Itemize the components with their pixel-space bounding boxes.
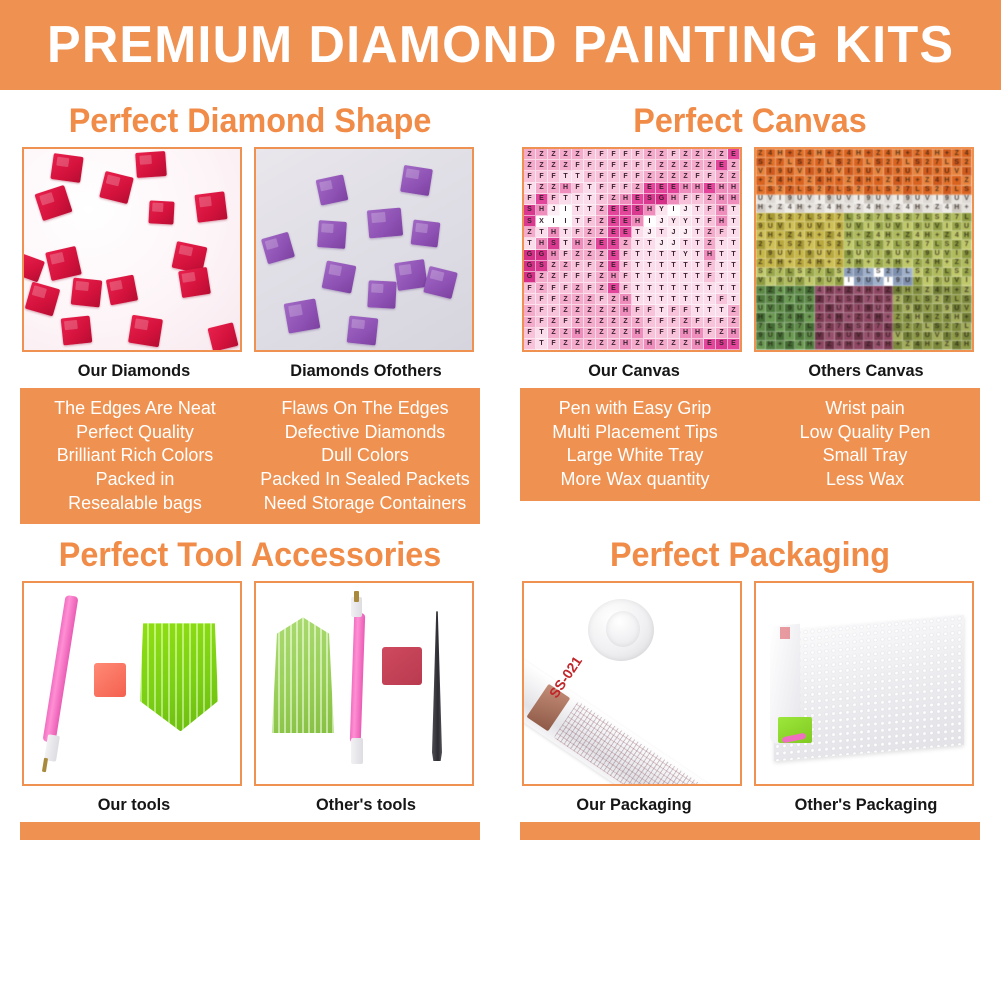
pen-end-cap (351, 738, 363, 764)
canvas-symbol-cell: F (548, 171, 560, 182)
canvas-symbol-cell: U (766, 222, 776, 231)
canvas-symbol-cell: F (668, 328, 680, 339)
canvas-symbol-cell: S (943, 240, 953, 249)
canvas-symbol-cell: F (548, 283, 560, 294)
canvas-symbol-cell: 2 (864, 323, 874, 332)
canvas-symbol-cell: U (756, 195, 766, 204)
canvas-symbol-cell: U (835, 304, 845, 313)
canvas-symbol-cell: Z (596, 216, 608, 227)
canvas-symbol-cell: 2 (825, 213, 835, 222)
diamond-drill (128, 315, 163, 348)
canvas-symbol-cell: Z (716, 328, 728, 339)
canvas-symbol-cell: H (620, 305, 632, 316)
canvas-symbol-cell: 4 (766, 149, 776, 158)
canvas-symbol-cell: H (785, 286, 795, 295)
canvas-symbol-cell: F (596, 294, 608, 305)
canvas-symbol-cell: Z (913, 259, 923, 268)
canvas-symbol-cell: U (884, 332, 894, 341)
canvas-symbol-cell: I (943, 332, 953, 341)
canvas-symbol-cell: Z (962, 176, 972, 185)
canvas-symbol-cell: V (903, 250, 913, 259)
canvas-symbol-cell: T (728, 227, 740, 238)
canvas-symbol-cell: T (728, 238, 740, 249)
canvas-symbol-cell: Z (785, 341, 795, 350)
canvas-symbol-cell: 4 (854, 286, 864, 295)
canvas-symbol-cell: V (825, 250, 835, 259)
canvas-symbol-cell: E (620, 205, 632, 216)
wax-block (94, 663, 126, 697)
canvas-symbol-cell: 4 (874, 341, 884, 350)
canvas-symbol-cell: Z (903, 231, 913, 240)
canvas-symbol-cell: + (913, 286, 923, 295)
canvas-symbol-cell: Z (524, 305, 536, 316)
canvas-symbol-cell: S (962, 295, 972, 304)
canvas-symbol-cell: 4 (776, 176, 786, 185)
canvas-symbol-cell: Z (854, 313, 864, 322)
canvas-symbol-cell: V (874, 277, 884, 286)
canvas-symbol-cell: 7 (943, 295, 953, 304)
canvas-symbol-cell: L (756, 295, 766, 304)
canvas-symbol-cell: + (893, 341, 903, 350)
canvas-symbol-cell: F (584, 171, 596, 182)
diamond-drill (367, 280, 396, 308)
canvas-symbol-cell: S (952, 268, 962, 277)
canvas-symbol-cell: 9 (933, 277, 943, 286)
canvas-symbol-cell: 9 (913, 332, 923, 341)
canvas-symbol-cell: L (923, 213, 933, 222)
canvas-symbol-cell: I (548, 216, 560, 227)
canvas-symbol-cell: U (864, 277, 874, 286)
canvas-symbol-cell: Z (620, 317, 632, 328)
canvas-symbol-cell: I (854, 304, 864, 313)
canvas-symbol-cell: T (536, 227, 548, 238)
canvas-symbol-cell: 4 (923, 259, 933, 268)
canvas-symbol-cell: F (572, 183, 584, 194)
canvas-symbol-cell: F (560, 283, 572, 294)
canvas-symbol-cell: 4 (785, 313, 795, 322)
canvas-symbol-cell: U (952, 195, 962, 204)
canvas-symbol-cell: Z (680, 339, 692, 350)
canvas-symbol-cell: I (776, 195, 786, 204)
canvas-symbol-cell: G (524, 250, 536, 261)
canvas-symbol-cell: H (844, 341, 854, 350)
canvas-symbol-cell: U (815, 250, 825, 259)
canvas-symbol-cell: Z (680, 160, 692, 171)
canvas-symbol-cell: 2 (776, 295, 786, 304)
canvas-symbol-cell: 2 (923, 158, 933, 167)
canvas-symbol-cell: E (704, 183, 716, 194)
canvas-symbol-cell: S (844, 295, 854, 304)
canvas-symbol-cell: T (692, 272, 704, 283)
canvas-symbol-cell: 2 (952, 240, 962, 249)
canvas-symbol-cell: L (835, 295, 845, 304)
canvas-symbol-cell: Z (844, 286, 854, 295)
diamond-drill (367, 208, 403, 239)
canvas-symbol-cell: V (923, 304, 933, 313)
canvas-symbol-cell: Z (560, 328, 572, 339)
canvas-symbol-cell: 9 (903, 195, 913, 204)
canvas-symbol-cell: Z (596, 250, 608, 261)
canvas-symbol-cell: Z (704, 194, 716, 205)
canvas-symbol-cell: Z (795, 149, 805, 158)
canvas-symbol-cell: Z (923, 286, 933, 295)
canvas-symbol-cell: 7 (756, 213, 766, 222)
canvas-symbol-cell: Z (536, 160, 548, 171)
canvas-symbol-cell: + (854, 231, 864, 240)
canvas-symbol-cell: 2 (835, 240, 845, 249)
canvas-symbol-cell: T (536, 339, 548, 350)
canvas-symbol-cell: Z (825, 231, 835, 240)
fact-line: Pen with Easy Grip (527, 396, 742, 420)
canvas-symbol-cell: I (805, 277, 815, 286)
canvas-symbol-cell: 7 (776, 158, 786, 167)
canvas-symbol-cell: + (962, 313, 972, 322)
canvas-symbol-cell: 2 (805, 268, 815, 277)
canvas-symbol-cell: 7 (874, 213, 884, 222)
canvas-symbol-cell: + (815, 341, 825, 350)
canvas-symbol-cell: H (620, 294, 632, 305)
canvas-symbol-cell: 7 (933, 158, 943, 167)
comparison-cell-ours: Our Diamonds (22, 147, 246, 388)
canvas-symbol-cell: Z (815, 313, 825, 322)
canvas-symbol-cell: S (844, 186, 854, 195)
canvas-symbol-cell: Z (805, 176, 815, 185)
canvas-symbol-cell: F (620, 171, 632, 182)
canvas-symbol-cell: V (815, 222, 825, 231)
canvas-symbol-cell: T (632, 227, 644, 238)
canvas-symbol-cell: 4 (864, 204, 874, 213)
canvas-symbol-cell: T (536, 328, 548, 339)
canvas-symbol-cell: F (536, 294, 548, 305)
canvas-symbol-cell: F (704, 205, 716, 216)
canvas-symbol-cell: 4 (805, 259, 815, 268)
canvas-symbol-cell: 2 (795, 240, 805, 249)
canvas-symbol-cell: 7 (785, 186, 795, 195)
canvas-symbol-cell: F (632, 160, 644, 171)
diamond-drill (411, 219, 441, 247)
canvas-symbol-cell: F (536, 171, 548, 182)
canvas-symbol-cell: T (644, 250, 656, 261)
canvas-symbol-cell: I (560, 216, 572, 227)
canvas-symbol-cell: Y (680, 216, 692, 227)
canvas-symbol-cell: H (943, 286, 953, 295)
canvas-symbol-cell: 2 (766, 268, 776, 277)
canvas-symbol-cell: 2 (844, 268, 854, 277)
canvas-symbol-cell: U (903, 167, 913, 176)
canvas-symbol-cell: Z (524, 160, 536, 171)
canvas-symbol-cell: H (548, 227, 560, 238)
canvas-symbol-cell: 4 (884, 149, 894, 158)
canvas-symbol-cell: Z (805, 286, 815, 295)
canvas-symbol-cell: + (835, 286, 845, 295)
canvas-symbol-cell: I (644, 216, 656, 227)
canvas-symbol-cell: L (903, 268, 913, 277)
canvas-symbol-cell: F (704, 328, 716, 339)
canvas-symbol-cell: U (785, 277, 795, 286)
canvas-symbol-cell: Z (644, 149, 656, 160)
canvas-symbol-cell: F (620, 272, 632, 283)
canvas-symbol-cell: U (795, 195, 805, 204)
canvas-symbol-cell: U (785, 167, 795, 176)
canvas-symbol-cell: T (728, 272, 740, 283)
canvas-symbol-cell: Z (608, 339, 620, 350)
canvas-symbol-cell: I (844, 277, 854, 286)
comparison-cell-ours: ZZZZZFFFFFZZFZZZZEZZZZFFFFFFFZZZZZEZFFFT… (522, 147, 746, 388)
canvas-symbol-cell: Z (548, 317, 560, 328)
canvas-symbol-cell: S (933, 323, 943, 332)
canvas-symbol-cell: V (933, 332, 943, 341)
canvas-symbol-cell: F (632, 171, 644, 182)
canvas-symbol-cell: F (596, 149, 608, 160)
canvas-symbol-cell: 2 (943, 323, 953, 332)
image-caption: Other's tools (258, 786, 473, 822)
canvas-symbol-cell: U (962, 332, 972, 341)
canvas-symbol-cell: E (644, 183, 656, 194)
canvas-symbol-cell: Z (632, 183, 644, 194)
canvas-symbol-cell: T (644, 238, 656, 249)
canvas-symbol-cell: I (893, 304, 903, 313)
canvas-symbol-cell: Z (572, 305, 584, 316)
canvas-symbol-cell: 4 (805, 149, 815, 158)
canvas-symbol-cell: 4 (923, 149, 933, 158)
facts-column-ours: Pen with Easy GripMulti Placement TipsLa… (523, 396, 746, 491)
canvas-symbol-cell: + (874, 176, 884, 185)
canvas-symbol-cell: I (893, 195, 903, 204)
canvas-symbol-cell: Z (524, 227, 536, 238)
canvas-symbol-cell: + (756, 176, 766, 185)
canvas-symbol-cell: Z (704, 227, 716, 238)
canvas-symbol-cell: V (913, 277, 923, 286)
canvas-symbol-cell: F (620, 283, 632, 294)
canvas-symbol-cell: S (854, 323, 864, 332)
canvas-symbol-cell: H (536, 205, 548, 216)
canvas-symbol-cell: T (632, 238, 644, 249)
canvas-symbol-cell: T (632, 283, 644, 294)
canvas-symbol-cell: Z (656, 339, 668, 350)
canvas-symbol-cell: H (933, 259, 943, 268)
canvas-symbol-cell: T (584, 194, 596, 205)
canvas-symbol-cell: 9 (923, 250, 933, 259)
canvas-symbol-cell: H (680, 328, 692, 339)
canvas-symbol-cell: I (815, 304, 825, 313)
canvas-symbol-cell: F (620, 261, 632, 272)
canvas-symbol-cell: E (608, 283, 620, 294)
canvas-symbol-cell: 4 (903, 313, 913, 322)
canvas-symbol-cell: F (608, 183, 620, 194)
canvas-symbol-cell: 2 (785, 323, 795, 332)
canvas-symbol-cell: 9 (835, 222, 845, 231)
fact-line: Large White Tray (527, 443, 742, 467)
canvas-symbol-cell: 7 (952, 213, 962, 222)
canvas-symbol-cell: 9 (844, 250, 854, 259)
canvas-symbol-cell: Z (668, 339, 680, 350)
canvas-symbol-cell: Z (560, 160, 572, 171)
canvas-symbol-cell: F (596, 194, 608, 205)
canvas-symbol-cell: T (692, 227, 704, 238)
canvas-symbol-cell: 9 (815, 167, 825, 176)
canvas-symbol-cell: F (608, 160, 620, 171)
canvas-symbol-cell: I (776, 304, 786, 313)
canvas-symbol-cell: T (656, 261, 668, 272)
canvas-symbol-cell: H (766, 341, 776, 350)
canvas-symbol-cell: 9 (884, 250, 894, 259)
symbol-grid-blurry: Z4H+Z4H+Z4H+Z4H+Z4H+Z4S27LS27LS27LS27LS2… (756, 149, 972, 350)
canvas-symbol-cell: H (795, 313, 805, 322)
canvas-symbol-cell: F (524, 171, 536, 182)
canvas-symbol-cell: Y (668, 216, 680, 227)
canvas-symbol-cell: T (656, 272, 668, 283)
canvas-symbol-cell: 9 (795, 222, 805, 231)
canvas-symbol-cell: 4 (776, 286, 786, 295)
canvas-symbol-cell: Z (632, 317, 644, 328)
canvas-symbol-cell: Z (536, 183, 548, 194)
canvas-symbol-cell: Z (776, 204, 786, 213)
canvas-symbol-cell: T (692, 294, 704, 305)
canvas-symbol-cell: 2 (766, 158, 776, 167)
canvas-symbol-cell: S (716, 339, 728, 350)
canvas-symbol-cell: + (805, 313, 815, 322)
canvas-symbol-cell: Z (596, 261, 608, 272)
canvas-symbol-cell: I (962, 167, 972, 176)
canvas-symbol-cell: S (766, 295, 776, 304)
canvas-symbol-cell: 9 (854, 167, 864, 176)
canvas-symbol-cell: T (716, 305, 728, 316)
canvas-symbol-cell: H (805, 341, 815, 350)
canvas-symbol-cell: V (943, 250, 953, 259)
canvas-symbol-cell: F (524, 294, 536, 305)
canvas-symbol-cell: J (656, 216, 668, 227)
canvas-symbol-cell: 9 (854, 277, 864, 286)
canvas-symbol-cell: Z (680, 317, 692, 328)
canvas-symbol-cell: 9 (864, 195, 874, 204)
comparison-pair: Our Diamonds (0, 147, 500, 388)
canvas-symbol-cell: T (644, 272, 656, 283)
canvas-symbol-cell: 4 (825, 204, 835, 213)
canvas-symbol-cell: Z (835, 149, 845, 158)
page-header-banner: PREMIUM DIAMOND PAINTING KITS (0, 0, 1001, 90)
canvas-symbol-cell: F (596, 171, 608, 182)
canvas-symbol-cell: U (805, 222, 815, 231)
symbol-grid-sharp: ZZZZZFFFFFZZFZZZZEZZZZFFFFFFFZZZZZEZFFFT… (524, 149, 740, 350)
canvas-symbol-cell: H (608, 272, 620, 283)
canvas-symbol-cell: L (874, 295, 884, 304)
canvas-symbol-cell: Z (716, 149, 728, 160)
comparison-cell-others: Diamonds Ofothers (254, 147, 478, 388)
canvas-symbol-cell: Z (893, 313, 903, 322)
canvas-symbol-cell: H (536, 238, 548, 249)
canvas-symbol-cell: J (656, 238, 668, 249)
canvas-symbol-cell: Y (680, 250, 692, 261)
canvas-symbol-cell: 7 (903, 186, 913, 195)
canvas-symbol-cell: X (536, 216, 548, 227)
canvas-symbol-cell: T (668, 250, 680, 261)
canvas-symbol-cell: Z (952, 259, 962, 268)
canvas-symbol-cell: T (656, 250, 668, 261)
canvas-symbol-cell: V (874, 167, 884, 176)
canvas-symbol-cell: V (913, 167, 923, 176)
fact-line: Less Wax (757, 467, 972, 491)
canvas-symbol-cell: Z (692, 149, 704, 160)
canvas-symbol-cell: G (524, 272, 536, 283)
canvas-symbol-cell: U (844, 222, 854, 231)
canvas-symbol-cell: H (704, 250, 716, 261)
section-title: Perfect Packaging (513, 536, 988, 575)
canvas-symbol-cell: 2 (854, 186, 864, 195)
canvas-symbol-cell: H (923, 231, 933, 240)
canvas-symbol-cell: F (548, 339, 560, 350)
canvas-symbol-cell: Z (893, 204, 903, 213)
comparison-cell-others: Other's tools (254, 581, 478, 822)
canvas-symbol-cell: 4 (835, 341, 845, 350)
canvas-symbol-cell: L (903, 158, 913, 167)
canvas-symbol-cell: I (923, 167, 933, 176)
canvas-symbol-cell: F (524, 339, 536, 350)
canvas-symbol-cell: F (548, 305, 560, 316)
canvas-symbol-cell: F (596, 160, 608, 171)
canvas-symbol-cell: T (692, 283, 704, 294)
canvas-symbol-cell: H (962, 231, 972, 240)
canvas-symbol-cell: V (933, 222, 943, 231)
wax-block (382, 647, 422, 685)
fact-line: Dull Colors (257, 443, 472, 467)
canvas-symbol-cell: S (884, 295, 894, 304)
canvas-symbol-cell: J (668, 227, 680, 238)
canvas-symbol-cell: H (962, 341, 972, 350)
image-others-packaging (754, 581, 974, 786)
canvas-symbol-cell: V (776, 222, 786, 231)
canvas-symbol-cell: Z (943, 231, 953, 240)
canvas-symbol-cell: Z (728, 305, 740, 316)
canvas-symbol-cell: J (548, 205, 560, 216)
canvas-symbol-cell: H (913, 313, 923, 322)
canvas-symbol-cell: H (644, 205, 656, 216)
canvas-symbol-cell: F (644, 317, 656, 328)
canvas-symbol-cell: F (668, 305, 680, 316)
canvas-symbol-cell: Z (548, 149, 560, 160)
canvas-symbol-cell: Z (864, 231, 874, 240)
fact-line: Low Quality Pen (757, 420, 972, 444)
comparison-cell-ours: SS-021 Our Packaging (522, 581, 746, 822)
canvas-symbol-cell: 7 (854, 268, 864, 277)
canvas-symbol-cell: 2 (933, 295, 943, 304)
canvas-symbol-cell: V (805, 304, 815, 313)
canvas-symbol-cell: 7 (893, 268, 903, 277)
comparison-cell-others: Z4H+Z4H+Z4H+Z4H+Z4H+Z4S27LS27LS27LS27LS2… (754, 147, 978, 388)
canvas-symbol-cell: S (835, 268, 845, 277)
comparison-cell-ours: Our tools (22, 581, 246, 822)
image-caption: Diamonds Ofothers (258, 352, 473, 388)
canvas-symbol-cell: I (805, 167, 815, 176)
canvas-symbol-cell: L (844, 213, 854, 222)
canvas-symbol-cell: Z (596, 305, 608, 316)
canvas-symbol-cell: S (756, 268, 766, 277)
canvas-symbol-cell: L (756, 186, 766, 195)
canvas-symbol-cell: F (716, 227, 728, 238)
canvas-symbol-cell: 7 (874, 323, 884, 332)
canvas-symbol-cell: T (560, 227, 572, 238)
canvas-symbol-cell: 2 (903, 323, 913, 332)
canvas-symbol-cell: 9 (825, 304, 835, 313)
canvas-symbol-cell: F (668, 317, 680, 328)
canvas-symbol-cell: L (913, 186, 923, 195)
canvas-symbol-cell: U (943, 277, 953, 286)
canvas-symbol-cell: + (903, 149, 913, 158)
canvas-symbol-cell: F (620, 183, 632, 194)
canvas-symbol-cell: 4 (815, 176, 825, 185)
canvas-symbol-cell: H (815, 259, 825, 268)
canvas-symbol-cell: J (668, 238, 680, 249)
canvas-symbol-cell: 2 (825, 323, 835, 332)
